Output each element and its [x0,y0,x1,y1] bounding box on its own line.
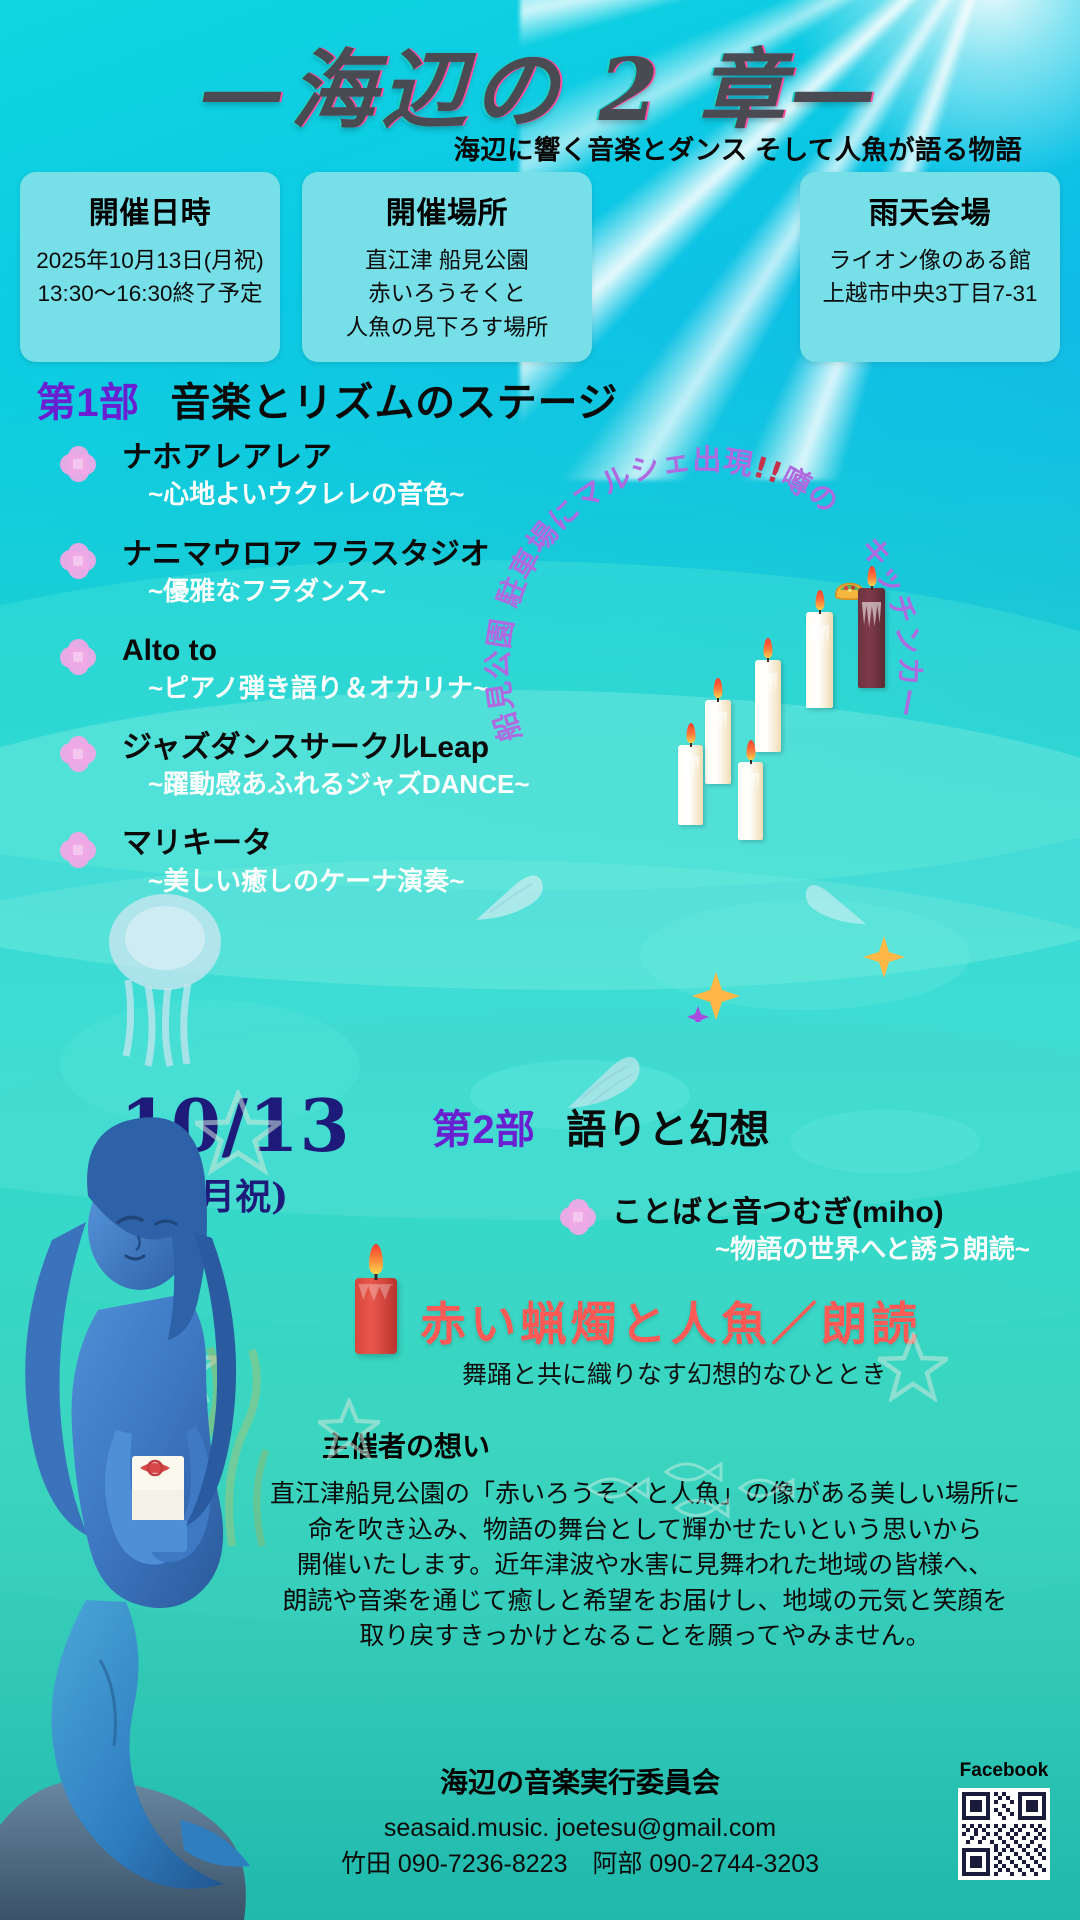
candle-icon [705,700,731,784]
part2-name: 語りと幻想 [566,1108,770,1152]
candle-icon [806,612,833,708]
performer-name: マリキータ [122,826,580,861]
info-box-line: 2025年10月13日(月祝) [30,244,270,277]
flower-bullet-icon [60,639,96,675]
starfish-icon [878,1332,948,1402]
info-box-line: ライオン像のある館 [810,244,1050,277]
poster-subtitle: 海辺に響く音楽とダンス そして人魚が語る物語 [454,128,1022,167]
poster-header: —海辺の 2 章— [0,20,1080,145]
sparkle-icon [860,934,904,978]
info-box-title: 開催場所 [312,188,582,232]
qr-code[interactable] [958,1788,1050,1880]
performer-desc: ~躍動感あふれるジャズDANCE~ [148,769,580,800]
info-box-rain-venue: 雨天会場 ライオン像のある館 上越市中央3丁目7-31 [800,172,1060,362]
starfish-icon [318,1398,380,1460]
info-box-line: 13:30〜16:30終了予定 [30,277,270,310]
footer-contact: 海辺の音楽実行委員会 seasaid.music. joetesu@gmail.… [300,1761,860,1882]
performer-desc: ~心地よいウクレレの音色~ [148,479,580,510]
contact-phones: 竹田 090-7236-8223 阿部 090-2744-3203 [300,1847,860,1883]
info-box-title: 開催日時 [30,188,270,232]
part1-name: 音楽とリズムのステージ [170,381,618,425]
fish-school-icon [580,1452,800,1522]
part1-heading: 第1部 音楽とリズムのステージ [36,370,618,428]
qr-code-image [962,1792,1046,1876]
shell-icon [560,1042,646,1114]
mermaid-statue [0,960,300,1920]
performer-name: ナホアレアレア [122,440,580,475]
shell-icon [800,872,872,930]
list-item: ことばと音つむぎ(miho) ~物語の世界へと誘う朗読~ [560,1195,1030,1266]
part2-program-list: ことばと音つむぎ(miho) ~物語の世界へと誘う朗読~ [560,1195,1030,1266]
organization-name: 海辺の音楽実行委員会 [300,1761,860,1801]
organizer-message-line: 取り戻すきっかけとなることを願ってやみません。 [230,1619,1060,1655]
candle-icon-dark [858,588,885,688]
organizer-message-line: 開催いたします。近年津波や水害に見舞われた地域の皆様へ、 [230,1548,1060,1584]
marche-text-tail: 噂の [776,460,846,521]
marche-text: 船見公園 駐車場にマルシェ出現!!噂の [481,443,846,746]
feature-title: 赤い蝋燭と人魚／朗読 [420,1288,921,1354]
flower-bullet-icon [60,832,96,868]
shell-icon [470,862,550,928]
flower-bullet-icon [60,446,96,482]
facebook-label: Facebook [958,1760,1050,1782]
flower-bullet-icon [60,543,96,579]
feature-subtitle: 舞踊と共に織りなす幻想的なひととき [462,1355,886,1391]
info-box-title: 雨天会場 [810,188,1050,232]
facebook-qr-block[interactable]: Facebook [958,1760,1050,1880]
candle-icon [755,660,781,752]
info-box-row: 開催日時 2025年10月13日(月祝) 13:30〜16:30終了予定 開催場… [20,172,1060,362]
info-box-venue: 開催場所 直江津 船見公園 赤いろうそくと 人魚の見下ろす場所 [302,172,592,362]
part1-number: 第1部 [36,381,139,425]
flower-bullet-icon [560,1199,596,1235]
list-item: ナホアレアレア ~心地よいウクレレの音色~ [60,440,580,511]
flower-bullet-icon [60,736,96,772]
poster-title: —海辺の 2 章— [0,20,1080,145]
organizer-message-line: 朗読や音楽を通じて癒しと希望をお届けし、地域の元気と笑顔を [230,1584,1060,1620]
info-box-line: 上越市中央3丁目7-31 [810,277,1050,310]
contact-email[interactable]: seasaid.music. joetesu@gmail.com [300,1811,860,1847]
info-box-line: 直江津 船見公園 [312,244,582,277]
candle-icon [738,762,763,840]
sparkle-icon [686,968,740,1022]
red-candle-icon [352,1278,400,1354]
performer-name: ことばと音つむぎ(miho) [612,1195,1030,1230]
performer-desc: ~物語の世界へと誘う朗読~ [612,1234,1030,1265]
candle-icon [678,745,703,825]
poster: —海辺の 2 章— 海辺に響く音楽とダンス そして人魚が語る物語 開催日時 20… [0,0,1080,1920]
info-box-datetime: 開催日時 2025年10月13日(月祝) 13:30〜16:30終了予定 [20,172,280,362]
info-box-line: 人魚の見下ろす場所 [312,311,582,344]
part2-number: 第2部 [432,1108,535,1152]
info-box-line: 赤いろうそくと [312,277,582,310]
